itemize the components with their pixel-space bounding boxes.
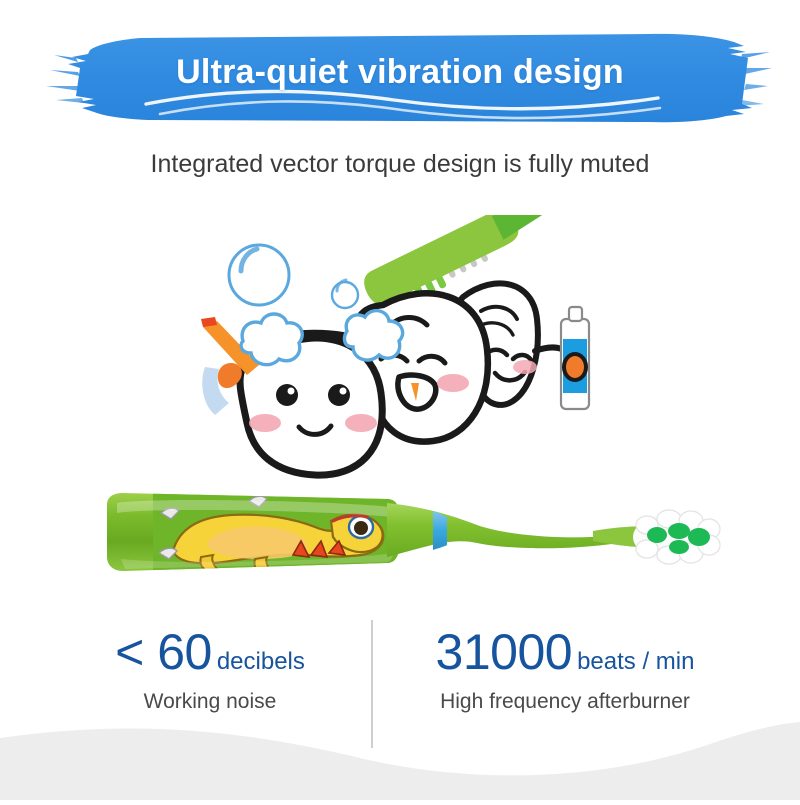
stat-caption-working-noise: Working noise <box>60 688 360 716</box>
brush-bristles <box>633 510 720 564</box>
stats-section: < 60decibels Working noise 31000beats / … <box>0 624 800 754</box>
stat-value-line: < 60decibels <box>60 624 360 680</box>
stat-working-noise: < 60decibels Working noise <box>60 624 360 716</box>
stat-beats-per-min: 31000beats / min High frequency afterbur… <box>390 624 740 716</box>
toothbrush-neck <box>387 503 619 557</box>
stat-unit-decibels: decibels <box>217 648 305 675</box>
stat-value-beats: 31000 <box>436 624 573 680</box>
subtitle-text: Integrated vector torque design is fully… <box>0 147 800 181</box>
stat-unit-beats: beats / min <box>577 648 694 675</box>
soap-bubbles-icon <box>229 245 358 308</box>
blue-band-ring <box>433 511 447 550</box>
toothpaste-tube-icon <box>561 307 589 409</box>
product-toothbrush-image <box>95 485 725 605</box>
stats-divider <box>371 620 373 748</box>
stat-value-decibels: < 60 <box>115 624 212 680</box>
infographic-page: Ultra-quiet vibration design Integrated … <box>0 0 800 800</box>
tooth-character-foam <box>201 311 403 476</box>
teeth-illustration <box>195 215 615 485</box>
stat-caption-afterburner: High frequency afterburner <box>390 688 740 716</box>
stat-value-line: 31000beats / min <box>390 624 740 680</box>
title-banner: Ultra-quiet vibration design <box>28 28 772 128</box>
banner-title: Ultra-quiet vibration design <box>28 50 772 94</box>
